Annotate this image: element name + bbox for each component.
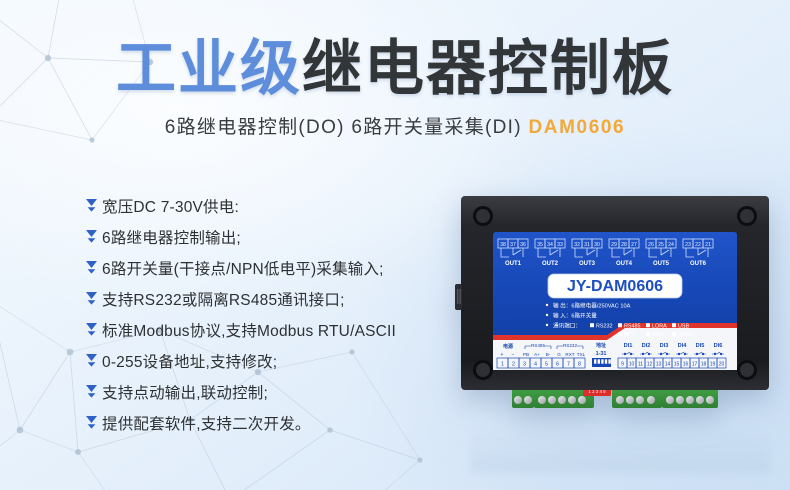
feature-text: 宽压DC 7-30V供电: <box>102 195 239 217</box>
svg-text:30: 30 <box>594 242 600 248</box>
feature-text: 提供配套软件,支持二次开发。 <box>102 412 311 434</box>
svg-text:7: 7 <box>567 361 570 367</box>
svg-text:2: 2 <box>512 361 515 367</box>
svg-text:38: 38 <box>500 242 506 248</box>
subtitle-main: 6路继电器控制(DO) 6路开关量采集(DI) <box>165 117 522 138</box>
svg-text:12: 12 <box>647 361 653 367</box>
subtitle-model: DAM0606 <box>528 117 625 138</box>
double-chevron-down-icon <box>80 291 102 306</box>
feature-list: 宽压DC 7-30V供电: 6路继电器控制输出; 6路开关量(干接点/NPN低电… <box>80 190 460 438</box>
title-rest: 继电器控制板 <box>302 35 674 102</box>
list-item: 支持点动输出,联动控制; <box>80 376 460 407</box>
rs232-label: RS232 <box>563 343 577 348</box>
list-item: 0-255设备地址,支持修改; <box>80 345 460 376</box>
svg-text:OUT2: OUT2 <box>542 261 559 267</box>
list-item: 6路开关量(干接点/NPN低电平)采集输入; <box>80 252 460 283</box>
svg-text:23: 23 <box>685 242 691 248</box>
svg-text:36: 36 <box>520 242 526 248</box>
list-item: 6路继电器控制输出; <box>80 221 460 252</box>
svg-text:17: 17 <box>692 361 698 367</box>
port-option: 网口 <box>624 331 635 338</box>
svg-text:OUT5: OUT5 <box>653 261 670 267</box>
svg-text:22: 22 <box>695 242 701 248</box>
svg-text:OUT6: OUT6 <box>690 261 707 267</box>
list-item: 提供配套软件,支持二次开发。 <box>80 407 460 438</box>
port-option: RS232 <box>596 323 612 329</box>
rs232-pin: G <box>557 352 561 357</box>
svg-text:OUT1: OUT1 <box>505 261 522 267</box>
svg-text:13: 13 <box>656 361 662 367</box>
di-label: DI1 <box>624 343 633 349</box>
port-option: LORA <box>652 323 667 329</box>
list-item: 宽压DC 7-30V供电: <box>80 190 460 221</box>
rs485-pin: A+ <box>534 352 540 357</box>
svg-text:15: 15 <box>674 361 680 367</box>
model-badge: JY-DAM0606 <box>548 274 682 298</box>
port-option: USB <box>678 323 689 329</box>
device-illustration: 1 2 3 4 5 <box>455 186 775 431</box>
port-option: WIFI <box>652 332 663 338</box>
port-option: GPRS <box>678 332 694 338</box>
svg-text:21: 21 <box>705 242 711 248</box>
svg-text:19: 19 <box>710 361 716 367</box>
svg-text:33: 33 <box>557 242 563 248</box>
feature-text: 6路继电器控制输出; <box>102 226 241 248</box>
power-pin: + <box>501 352 504 358</box>
address-dip-switch-icon <box>592 358 611 367</box>
svg-text:20: 20 <box>719 361 725 367</box>
double-chevron-down-icon <box>80 198 102 213</box>
svg-text:4: 4 <box>534 361 537 367</box>
svg-text:OUT3: OUT3 <box>579 261 596 267</box>
double-chevron-down-icon <box>80 384 102 399</box>
rs485-pin: PB <box>523 352 529 357</box>
rs232-pin: TXL <box>577 352 586 357</box>
port-option: RS485 <box>624 323 640 329</box>
svg-text:18: 18 <box>701 361 707 367</box>
page-subtitle: 6路继电器控制(DO) 6路开关量采集(DI) DAM0606 <box>0 112 790 139</box>
rs232-pin: RXT <box>565 352 574 357</box>
banner-header: 工业级继电器控制板 6路继电器控制(DO) 6路开关量采集(DI) DAM060… <box>0 38 790 139</box>
feature-text: 6路开关量(干接点/NPN低电平)采集输入; <box>102 257 384 279</box>
di-label: DI4 <box>678 343 688 349</box>
comm-port-options-row2: 网口 WIFI GPRS <box>618 331 694 338</box>
double-chevron-down-icon <box>80 229 102 244</box>
svg-text:1: 1 <box>501 361 504 367</box>
port-label: 通讯端口： <box>553 322 581 330</box>
feature-text: 支持点动输出,联动控制; <box>102 381 268 403</box>
svg-text:26: 26 <box>648 242 654 248</box>
svg-text:31: 31 <box>584 242 590 248</box>
svg-text:14: 14 <box>665 361 671 367</box>
device-reflection <box>470 425 770 473</box>
di-label: DI3 <box>660 343 669 349</box>
product-image: 1 2 3 4 5 <box>455 186 775 431</box>
svg-text:10: 10 <box>629 361 635 367</box>
svg-text:24: 24 <box>668 242 674 248</box>
svg-text:9: 9 <box>621 361 624 367</box>
svg-text:5: 5 <box>545 361 548 367</box>
double-chevron-down-icon <box>80 260 102 275</box>
svg-text:27: 27 <box>631 242 637 248</box>
svg-text:34: 34 <box>547 242 553 248</box>
device-front-label <box>493 232 737 370</box>
svg-text:OUT4: OUT4 <box>616 261 633 267</box>
feature-text: 标准Modbus协议,支持Modbus RTU/ASCII <box>102 319 396 341</box>
di-label: DI5 <box>696 343 705 349</box>
power-label: 电源 <box>503 343 513 350</box>
svg-text:11: 11 <box>638 361 643 367</box>
page-title: 工业级继电器控制板 <box>0 38 790 99</box>
double-chevron-down-icon <box>80 415 102 430</box>
spec-line: 输 出：6路继电器/250VAC 10A <box>553 302 631 310</box>
list-item: 标准Modbus协议,支持Modbus RTU/ASCII <box>80 314 460 345</box>
address-label: 地址 <box>596 342 606 349</box>
power-pin: − <box>512 352 515 358</box>
svg-text:3: 3 <box>523 361 526 367</box>
svg-text:35: 35 <box>537 242 543 248</box>
di-label: DI6 <box>714 343 723 349</box>
product-banner: 工业级继电器控制板 6路继电器控制(DO) 6路开关量采集(DI) DAM060… <box>0 0 790 490</box>
rs485-pin: B- <box>546 352 551 357</box>
rs485-label: RS485 <box>531 343 545 348</box>
double-chevron-down-icon <box>80 322 102 337</box>
di-label: DI2 <box>642 343 651 349</box>
list-item: 支持RS232或隔离RS485通讯接口; <box>80 283 460 314</box>
feature-text: 支持RS232或隔离RS485通讯接口; <box>102 288 345 310</box>
svg-text:32: 32 <box>574 242 580 248</box>
double-chevron-down-icon <box>80 353 102 368</box>
feature-text: 0-255设备地址,支持修改; <box>102 350 277 372</box>
model-badge-text: JY-DAM0606 <box>567 278 663 295</box>
title-highlight: 工业级 <box>116 35 302 102</box>
spec-line: 输 入：6路开关量 <box>553 312 597 320</box>
svg-text:6: 6 <box>556 361 559 367</box>
svg-text:37: 37 <box>510 242 516 248</box>
address-range: 1-31 <box>596 351 607 357</box>
svg-text:25: 25 <box>658 242 664 248</box>
svg-text:28: 28 <box>621 242 627 248</box>
svg-text:29: 29 <box>611 242 617 248</box>
svg-text:16: 16 <box>683 361 689 367</box>
svg-text:8: 8 <box>578 361 581 367</box>
